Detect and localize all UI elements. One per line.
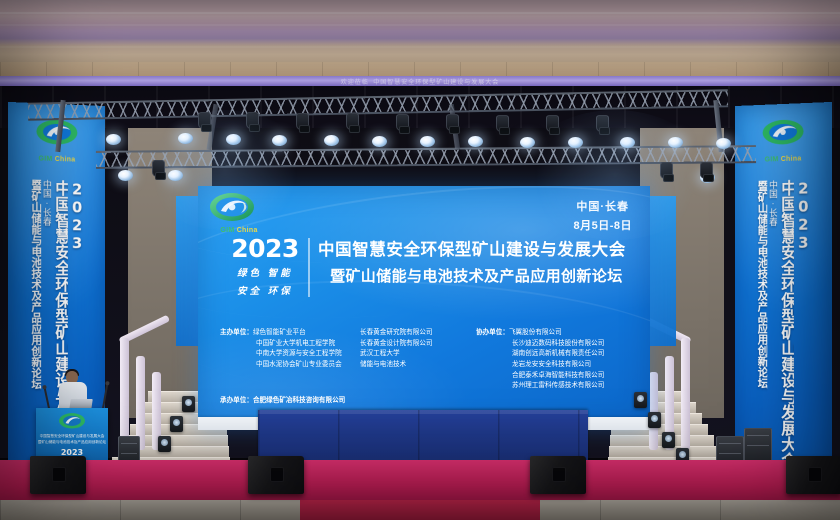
cohost-org-2: 长沙迪迈数码科技股份有限公司 [476,339,636,350]
spotlight [226,134,241,145]
balustrade-left [120,338,174,450]
ceiling [0,0,840,62]
cohost-org-5: 合肥泰禾卓海智能科技有限公司 [476,371,636,382]
cohost-org-6: 苏州理工雷科传感技术有限公司 [476,381,636,392]
moving-head-light-row2 [700,162,713,179]
host-org-2: 中国矿业大学机电工程学院 [220,339,354,350]
hall-led-ticker: 欢迎莅临 中国智慧安全环保型矿山建设与发展大会 [0,76,840,86]
host-org-6: 长春黄金设计院有限公司 [360,339,470,350]
moving-head-light-row2 [152,160,165,177]
floor-moving-light [182,396,195,412]
main-led-screen: GIM China 中国·长春 8月5日-8日 2023 绿色 智能 安全 环保… [198,186,650,430]
moving-head-light [546,115,559,132]
moving-head-light [346,113,359,130]
swirl-emblem-icon [760,117,805,151]
cohost-column: 协办单位：飞翼股份有限公司 长沙迪迈数码科技股份有限公司 湖南创远高新机械有限责… [476,328,636,392]
logo-word-gim: GIM [765,156,779,163]
banner-year: 2023 [795,179,810,477]
moving-head-light [496,115,509,132]
conference-stage-photo: 欢迎莅临 中国智慧安全环保型矿山建设与发展大会 [0,0,840,520]
spotlight [372,136,387,147]
event-title-main: 中国智慧安全环保型矿山建设与发展大会 [318,236,636,260]
year-slogan-block: 2023 绿色 智能 安全 环保 [224,236,306,297]
spotlight [272,135,287,146]
moving-head-light [396,114,409,131]
banner-title: 中国智慧安全环保型矿山建设与发展大会 [778,180,794,477]
cohost-label: 协办单位： [476,329,509,336]
side-led-right [650,196,676,346]
gim-china-logo: GIM China [208,192,270,234]
cohost-org-3: 湖南创远高新机械有限责任公司 [476,349,636,360]
cohost-org-4: 龙岩龙安安全科技有限公司 [476,360,636,371]
moving-head-light [446,114,459,131]
spotlight [106,134,121,145]
host-org-3: 中南大学资源与安全工程学院 [220,349,354,360]
spotlight [324,135,339,146]
logo-word-china: China [781,155,802,163]
floor-moving-light [662,432,675,448]
host-column-2: 长春黄金研究院有限公司 长春黄金设计院有限公司 武汉工程大学 储能与电池技术 [360,328,470,392]
title-block: 中国智慧安全环保型矿山建设与发展大会 暨矿山储能与电池技术及产品应用创新论坛 [318,236,636,286]
podium-title-1: 中国智慧安全环保型矿山建设与发展大会 [36,434,108,439]
host-org-5: 长春黄金研究院有限公司 [360,328,470,339]
spotlight [178,133,193,144]
equipment-road-case-left [118,436,140,462]
head-table-skirt [258,410,588,462]
banner-logo-right: GIM China [756,117,809,164]
logo-word-china: China [55,156,76,164]
undertaker-label: 承办单位： [220,397,253,404]
logo-word-china: China [237,227,258,234]
cornice-molding [0,62,840,76]
slogan-line-1: 绿色 智能 [224,265,306,279]
floor-moving-light [170,416,183,432]
podium-title-2: 暨矿山储能与电池技术及产品应用创新论坛 [36,440,108,445]
spotlight [468,136,483,147]
event-dates: 8月5日-8日 [573,217,632,233]
swirl-emblem-icon [57,412,87,432]
floor-moving-light [158,436,171,452]
spotlight [620,137,635,148]
moving-head-light [596,115,609,132]
headline-divider [308,238,310,297]
swirl-emblem-icon [208,192,256,226]
host-org-4: 中国水泥协会矿山专业委员会 [220,360,354,371]
stage-monitor-speaker [30,456,86,494]
stage-monitor-speaker [248,456,304,494]
host-column: 主办单位：绿色智能矿业平台 中国矿业大学机电工程学院 中南大学资源与安全工程学院… [220,328,354,392]
organizer-block: 主办单位：绿色智能矿业平台 中国矿业大学机电工程学院 中南大学资源与安全工程学院… [220,328,636,392]
logo-word-gim: GIM [220,227,234,234]
event-city: 中国·长春 [573,198,632,214]
host-label: 主办单位： [220,329,253,336]
logo-wordmark: GIM China [208,227,270,234]
moving-head-light [246,112,259,129]
slogan-line-2: 安全 环保 [224,283,306,297]
undertaker-org: 合肥绿色矿冶科技咨询有限公司 [253,397,345,404]
undertaker-row: 承办单位：合肥绿色矿冶科技咨询有限公司 [220,394,345,404]
spotlight [568,137,583,148]
city-date-block: 中国·长春 8月5日-8日 [573,198,632,233]
banner-wordmark-right: GIM China [756,155,809,164]
stage-monitor-speaker [786,456,840,494]
host-org-8: 储能与电池技术 [360,360,470,371]
moving-head-light-row2 [660,162,673,179]
floor-moving-light [634,392,647,408]
spotlight [716,138,731,149]
spotlight-row2 [168,170,183,181]
led-ticker-text: 欢迎莅临 中国智慧安全环保型矿山建设与发展大会 [0,77,840,86]
moving-head-light [296,113,309,130]
screen-headline: 2023 绿色 智能 安全 环保 中国智慧安全环保型矿山建设与发展大会 暨矿山储… [224,236,636,297]
cohost-org-1: 飞翼股份有限公司 [509,329,562,336]
event-title-sub: 暨矿山储能与电池技术及产品应用创新论坛 [318,265,636,286]
equipment-road-case-right [744,428,772,462]
aisle-runner [300,500,540,520]
logo-word-gim: GIM [38,155,52,162]
event-year: 2023 [224,236,306,261]
spotlight [520,137,535,148]
spotlight [668,137,683,148]
stage-carpet [0,460,840,502]
banner-wordmark-left: GIM China [30,155,83,164]
spotlight [420,136,435,147]
host-org-7: 武汉工程大学 [360,349,470,360]
stage-monitor-speaker [530,456,586,494]
host-org-1: 绿色智能矿业平台 [253,329,306,336]
spotlight-row2 [118,170,133,181]
floor-moving-light [648,412,661,428]
moving-head-light [198,112,211,129]
